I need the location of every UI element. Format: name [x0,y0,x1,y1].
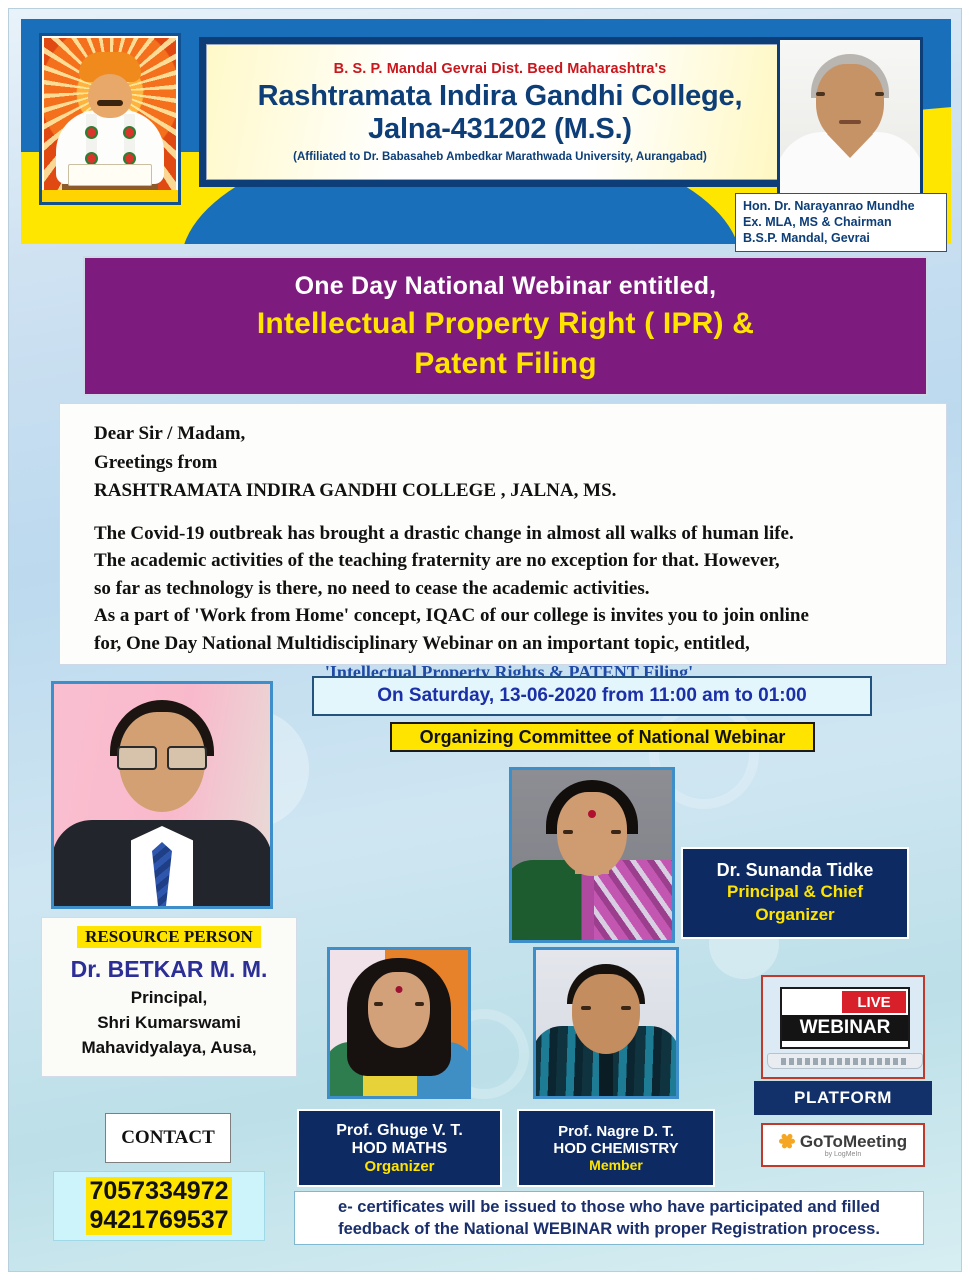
bindi [396,986,403,993]
emblem-flower [123,126,136,139]
webinar-label: WEBINAR [782,1015,908,1041]
member-name: Dr. Sunanda Tidke [717,860,874,881]
gotomeeting-wordmark: GoToMeeting [800,1133,907,1150]
contact-label: CONTACT [121,1127,215,1149]
certificate-note-line1: e- certificates will be issued to those … [338,1196,880,1218]
ghuge-photo [327,947,471,1099]
college-name-line2: Jalna-431202 (M.S.) [368,113,632,146]
member-department: HOD CHEMISTRY [553,1140,678,1157]
letter-body-line: so far as technology is there, no need t… [94,575,924,603]
chairman-mouth [839,120,861,124]
from-college-line: RASHTRAMATA INDIRA GANDHI COLLEGE , JALN… [94,477,924,506]
live-badge: LIVE [842,991,906,1013]
nagre-photo [533,947,679,1099]
gotomeeting-to: To [823,1132,843,1151]
member-name: Prof. Ghuge V. T. [336,1122,463,1140]
resource-person-photo [51,681,273,909]
poster-canvas: B. S. P. Mandal Gevrai Dist. Beed Mahara… [8,8,962,1272]
resource-person-label: RESOURCE PERSON [77,926,261,948]
letter-body: The Covid-19 outbreak has brought a dras… [94,520,924,658]
member-role: Organizer [364,1158,434,1175]
certificate-note: e- certificates will be issued to those … [294,1191,924,1245]
member-eye [374,1002,383,1006]
nagre-caption: Prof. Nagre D. T. HOD CHEMISTRY Member [517,1109,715,1187]
member-eye [581,1006,591,1010]
chairman-caption: Hon. Dr. Narayanrao Mundhe Ex. MLA, MS &… [735,193,947,252]
member-role-line2: Organizer [755,904,834,926]
chairman-name: Hon. Dr. Narayanrao Mundhe [743,198,939,214]
platform-label: PLATFORM [794,1088,892,1108]
member-role-line1: Principal & Chief [727,881,863,903]
live-webinar-graphic: LIVE WEBINAR [761,975,925,1079]
affiliation-line: (Affiliated to Dr. Babasaheb Ambedkar Ma… [293,151,707,163]
emblem-book [68,164,152,186]
sunanda-tidke-caption: Dr. Sunanda Tidke Principal & Chief Orga… [681,847,909,939]
contact-numbers-box: 7057334972 9421769537 [53,1171,265,1241]
certificate-note-line2: feedback of the National WEBINAR with pr… [338,1218,880,1240]
letter-body-line: As a part of 'Work from Home' concept, I… [94,602,924,630]
member-name: Prof. Nagre D. T. [558,1123,674,1140]
schedule-bar: On Saturday, 13-06-2020 from 11:00 am to… [312,676,872,716]
committee-heading: Organizing Committee of National Webinar [390,722,815,752]
committee-heading-text: Organizing Committee of National Webinar [420,727,786,748]
banner-line1: One Day National Webinar entitled, [295,272,717,301]
schedule-text: On Saturday, 13-06-2020 from 11:00 am to… [377,685,806,707]
gotomeeting-subtitle: by LogMeIn [779,1151,907,1158]
resource-person-block: RESOURCE PERSON Dr. BETKAR M. M. Princip… [41,917,297,1077]
letter-body-line: The Covid-19 outbreak has brought a dras… [94,520,924,548]
member-department: HOD MATHS [352,1140,448,1158]
banner-line2: Intellectual Property Right ( IPR) & [257,307,754,341]
member-face [572,974,640,1054]
emblem-caption-strip [42,190,178,202]
letter-body-line: for, One Day National Multidisciplinary … [94,630,924,658]
resource-person-name: Dr. BETKAR M. M. [71,956,268,983]
founder-portrait [39,33,181,205]
member-role: Member [589,1157,643,1173]
bindi [588,810,596,818]
letter-body-line: The academic activities of the teaching … [94,547,924,575]
chairman-designation: Ex. MLA, MS & Chairman [743,214,939,230]
gotomeeting-meeting: Meeting [843,1132,907,1151]
ghuge-caption: Prof. Ghuge V. T. HOD MATHS Organizer [297,1109,502,1187]
contact-phone-1[interactable]: 7057334972 [86,1177,231,1206]
sunanda-tidke-photo [509,767,675,943]
glasses-icon [117,746,207,768]
emblem-mustache [97,100,123,106]
org-line: B. S. P. Mandal Gevrai Dist. Beed Mahara… [334,61,667,77]
member-eye [563,830,573,834]
platform-label-bar: PLATFORM [754,1081,932,1115]
emblem-face [88,74,132,118]
resource-person-institute-line1: Shri Kumarswami [97,1013,241,1033]
chairman-organization: B.S.P. Mandal, Gevrai [743,230,939,246]
gotomeeting-go: Go [800,1132,824,1151]
banner-line3: Patent Filing [414,347,597,381]
chairman-eye [816,92,825,96]
college-title-box: B. S. P. Mandal Gevrai Dist. Beed Mahara… [199,37,801,187]
chairman-photo [777,37,923,197]
webinar-title-banner: One Day National Webinar entitled, Intel… [83,256,928,396]
resource-person-institute-line2: Mahavidyalaya, Ausa, [81,1038,256,1058]
college-name-line1: Rashtramata Indira Gandhi College, [258,80,743,113]
webinar-poster: B. S. P. Mandal Gevrai Dist. Beed Mahara… [0,0,970,1280]
member-face [557,792,627,876]
resource-person-designation: Principal, [131,988,208,1008]
contact-phone-2[interactable]: 9421769537 [86,1206,231,1235]
salutation: Dear Sir / Madam, [94,420,924,449]
greeting-line: Greetings from [94,449,924,478]
laptop-keyboard [781,1058,909,1065]
chairman-face [816,64,884,144]
member-eye [621,1006,631,1010]
member-eye [611,830,621,834]
member-eye [415,1002,424,1006]
laptop-screen: LIVE WEBINAR [780,987,910,1049]
emblem-flower [85,126,98,139]
invitation-letter: Dear Sir / Madam, Greetings from RASHTRA… [59,403,947,665]
contact-label-box: CONTACT [105,1113,231,1163]
member-face [368,972,430,1048]
gotomeeting-star-icon [779,1133,795,1149]
chairman-eye [875,92,884,96]
gotomeeting-logo-box: GoToMeeting by LogMeIn [761,1123,925,1167]
